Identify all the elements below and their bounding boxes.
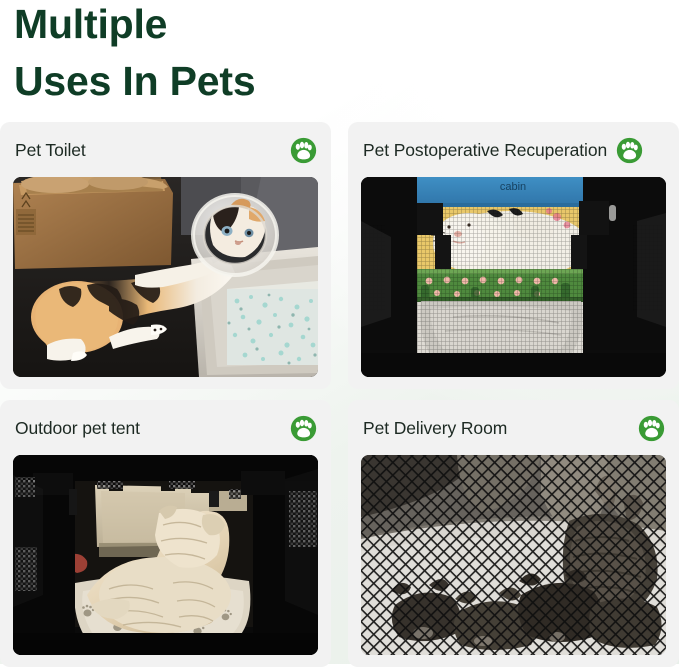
card-header: Pet Postoperative Recuperation [348,122,679,178]
card-photo [361,455,666,655]
card-photo [13,455,318,655]
paw-print-icon [616,137,643,164]
card-header: Outdoor pet tent [0,400,331,456]
photo-pet-toilet [13,177,318,377]
use-case-card-pet-postoperative-recuperation: Pet Postoperative Recuperation [348,122,679,389]
photo-pet-delivery-room [361,455,666,655]
page-title: Multiple Uses In Pets [14,0,574,109]
page-background: Multiple Uses In Pets Pet Toilet [0,0,679,664]
use-case-card-pet-toilet: Pet Toilet [0,122,331,389]
card-photo: cabin [361,177,666,377]
card-photo [13,177,318,377]
photo-pet-postoperative-recuperation: cabin [361,177,666,377]
page-title-line-2: Uses In Pets [14,53,574,110]
paw-print-icon [290,137,317,164]
carrier-brand-text: cabin [500,181,526,193]
page-title-line-1: Multiple [14,0,574,53]
use-case-card-outdoor-pet-tent: Outdoor pet tent [0,400,331,667]
card-title: Pet Toilet [15,140,281,161]
photo-outdoor-pet-tent [13,455,318,655]
card-header: Pet Delivery Room [348,400,679,456]
use-case-card-grid: Pet Toilet [0,122,679,667]
paw-print-icon [638,415,665,442]
card-title: Pet Delivery Room [363,418,629,439]
card-title: Pet Postoperative Recuperation [363,140,607,161]
card-title: Outdoor pet tent [15,418,281,439]
card-header: Pet Toilet [0,122,331,178]
use-case-card-pet-delivery-room: Pet Delivery Room [348,400,679,667]
paw-print-icon [290,415,317,442]
